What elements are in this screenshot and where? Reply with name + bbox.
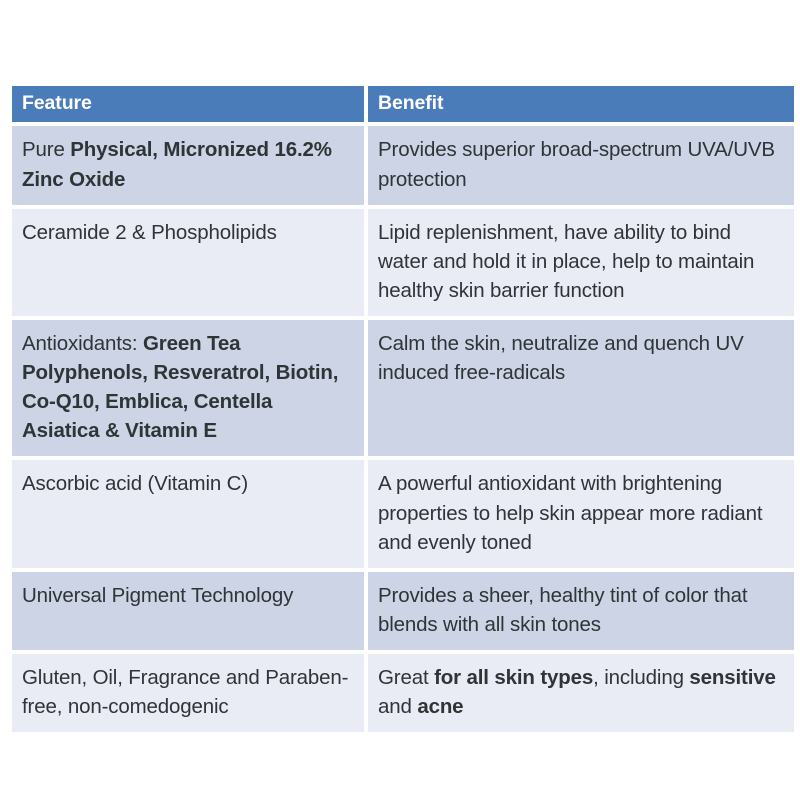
feature-text: Universal Pigment Technology: [22, 581, 352, 610]
table-row: Gluten, Oil, Fragrance and Paraben-free,…: [12, 654, 794, 732]
benefit-text: Provides a sheer, healthy tint of color …: [378, 581, 782, 639]
page-canvas: Feature Benefit Pure Physical, Micronize…: [0, 0, 800, 800]
feature-benefit-table: Feature Benefit Pure Physical, Micronize…: [8, 86, 798, 732]
benefit-segment: Provides superior broad-spectrum UVA/UVB…: [378, 138, 775, 190]
benefit-segment: Great: [378, 666, 434, 689]
table-row: Antioxidants: Green Tea Polyphenols, Res…: [12, 320, 794, 456]
cell-feature: Ascorbic acid (Vitamin C): [12, 460, 364, 567]
cell-benefit: Provides a sheer, healthy tint of color …: [368, 572, 794, 650]
table-row: Universal Pigment TechnologyProvides a s…: [12, 572, 794, 650]
table-header: Feature Benefit: [12, 86, 794, 126]
table-header-row: Feature Benefit: [12, 86, 794, 122]
table-row: Ceramide 2 & PhospholipidsLipid replenis…: [12, 209, 794, 316]
feature-text: Ascorbic acid (Vitamin C): [22, 469, 352, 498]
cell-feature: Gluten, Oil, Fragrance and Paraben-free,…: [12, 654, 364, 732]
benefit-segment: Calm the skin, neutralize and quench UV …: [378, 332, 744, 384]
feature-text: Gluten, Oil, Fragrance and Paraben-free,…: [22, 663, 352, 721]
benefit-text: Lipid replenishment, have ability to bin…: [378, 218, 782, 305]
cell-feature: Ceramide 2 & Phospholipids: [12, 209, 364, 316]
cell-benefit: Calm the skin, neutralize and quench UV …: [368, 320, 794, 456]
feature-text: Pure Physical, Micronized 16.2% Zinc Oxi…: [22, 135, 352, 193]
feature-segment: Ascorbic acid (Vitamin C): [22, 472, 248, 495]
benefit-segment: acne: [417, 695, 463, 718]
benefit-segment: , including: [593, 666, 689, 689]
feature-segment: Gluten, Oil, Fragrance and Paraben-free,…: [22, 666, 348, 718]
benefit-text: Great for all skin types, including sens…: [378, 663, 782, 721]
benefit-segment: Lipid replenishment, have ability to bin…: [378, 221, 754, 302]
cell-feature: Pure Physical, Micronized 16.2% Zinc Oxi…: [12, 126, 364, 204]
feature-segment: Ceramide 2 & Phospholipids: [22, 221, 277, 244]
benefit-text: Calm the skin, neutralize and quench UV …: [378, 329, 782, 387]
cell-benefit: Lipid replenishment, have ability to bin…: [368, 209, 794, 316]
benefit-segment: and: [378, 695, 417, 718]
benefit-text: A powerful antioxidant with brightening …: [378, 469, 782, 556]
column-header-feature: Feature: [12, 86, 364, 122]
table-body: Pure Physical, Micronized 16.2% Zinc Oxi…: [12, 126, 794, 732]
benefit-segment: sensitive: [689, 666, 775, 689]
benefit-segment: for all skin types: [434, 666, 593, 689]
cell-feature: Universal Pigment Technology: [12, 572, 364, 650]
cell-benefit: A powerful antioxidant with brightening …: [368, 460, 794, 567]
benefit-segment: Provides a sheer, healthy tint of color …: [378, 584, 747, 636]
benefit-text: Provides superior broad-spectrum UVA/UVB…: [378, 135, 782, 193]
feature-segment: Universal Pigment Technology: [22, 584, 293, 607]
feature-segment: Antioxidants:: [22, 332, 143, 355]
benefit-segment: A powerful antioxidant with brightening …: [378, 472, 762, 553]
cell-benefit: Provides superior broad-spectrum UVA/UVB…: [368, 126, 794, 204]
feature-segment: Pure: [22, 138, 70, 161]
table-row: Ascorbic acid (Vitamin C)A powerful anti…: [12, 460, 794, 567]
feature-text: Ceramide 2 & Phospholipids: [22, 218, 352, 247]
table-row: Pure Physical, Micronized 16.2% Zinc Oxi…: [12, 126, 794, 204]
cell-benefit: Great for all skin types, including sens…: [368, 654, 794, 732]
feature-text: Antioxidants: Green Tea Polyphenols, Res…: [22, 329, 352, 445]
cell-feature: Antioxidants: Green Tea Polyphenols, Res…: [12, 320, 364, 456]
column-header-benefit: Benefit: [368, 86, 794, 122]
